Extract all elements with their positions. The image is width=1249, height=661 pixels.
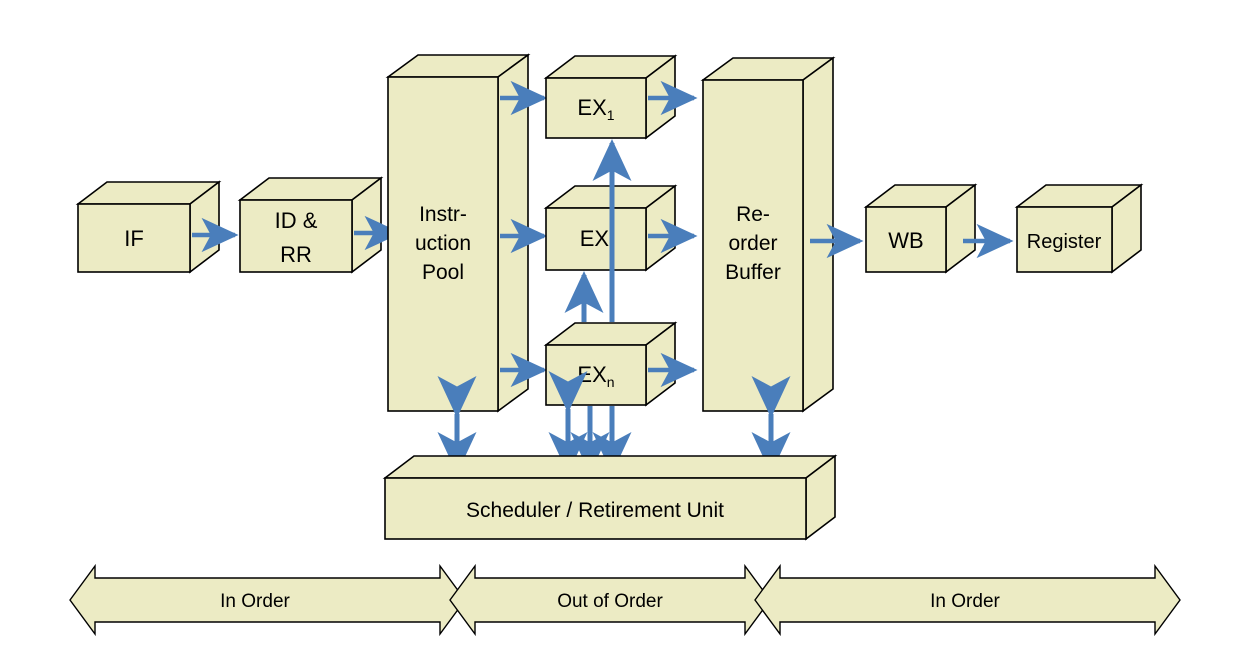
stage-label-register: Register xyxy=(1027,231,1102,253)
order-band-out-of-order: Out of Order xyxy=(450,566,770,634)
pipeline-diagram: IF ID & RR Instr- uction Pool xyxy=(0,0,1249,661)
stage-box-scheduler[interactable]: Scheduler / Retirement Unit xyxy=(385,456,835,539)
order-band-in-order-back: In Order xyxy=(755,566,1180,634)
stage-label-id-rr-line2: RR xyxy=(280,242,312,267)
order-band-label-2: Out of Order xyxy=(557,591,663,612)
scheduler-top-face xyxy=(385,456,835,478)
stage-label-reorder-buffer-line1: Re- xyxy=(736,203,770,226)
stage-box-wb[interactable]: WB xyxy=(866,185,975,272)
ex-i-base: EX xyxy=(580,226,610,251)
order-band-label-3: In Order xyxy=(930,591,1000,612)
stage-label-if: IF xyxy=(124,226,144,251)
stage-box-reorder-buffer[interactable]: Re- order Buffer xyxy=(703,58,833,411)
stage-box-ex-n[interactable]: EXn xyxy=(546,323,675,405)
stage-box-instruction-pool[interactable]: Instr- uction Pool xyxy=(388,55,528,411)
stage-label-reorder-buffer-line3: Buffer xyxy=(725,261,781,284)
ex-n-subscript: n xyxy=(607,374,615,390)
ex-n-base: EX xyxy=(577,362,607,387)
stage-label-instruction-pool-line2: uction xyxy=(415,232,471,255)
stage-label-reorder-buffer-line2: order xyxy=(728,232,777,255)
stage-box-if[interactable]: IF xyxy=(78,182,219,272)
diagram-canvas: IF ID & RR Instr- uction Pool xyxy=(0,0,1249,661)
stage-label-instruction-pool-line3: Pool xyxy=(422,261,464,284)
stage-label-wb: WB xyxy=(888,228,923,253)
stage-box-id-rr[interactable]: ID & RR xyxy=(240,178,381,272)
ex-1-subscript: 1 xyxy=(607,107,615,123)
stage-label-scheduler: Scheduler / Retirement Unit xyxy=(466,499,724,522)
order-band-label-1: In Order xyxy=(220,591,290,612)
stage-label-id-rr-line1: ID & xyxy=(275,208,318,233)
instruction-pool-side-face xyxy=(498,55,528,411)
stage-label-instruction-pool-line1: Instr- xyxy=(419,203,467,226)
reorder-buffer-side-face xyxy=(803,58,833,411)
stage-box-register[interactable]: Register xyxy=(1017,185,1141,272)
order-band-in-order-front: In Order xyxy=(70,566,465,634)
stage-label-ex-i: EXi xyxy=(580,226,612,254)
ex-1-base: EX xyxy=(577,95,607,120)
